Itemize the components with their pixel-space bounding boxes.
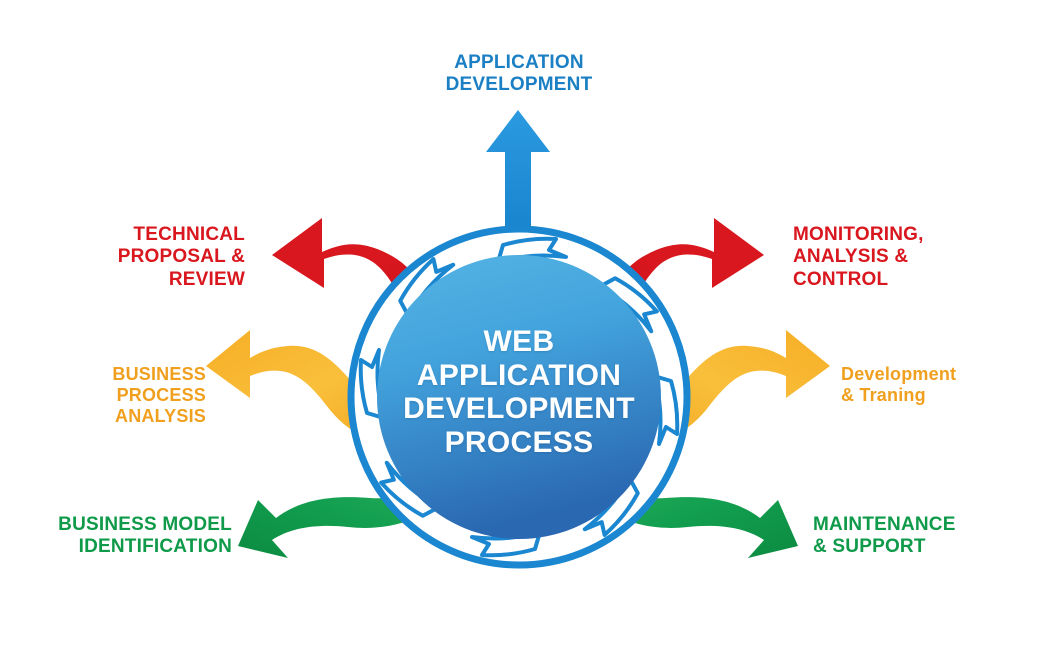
label-technical-proposal-review: TECHNICAL PROPOSAL & REVIEW (40, 224, 245, 291)
circle-inner-disc (377, 255, 661, 539)
label-maintenance-support: MAINTENANCE & SUPPORT (813, 514, 1038, 559)
label-business-process-analysis: BUSINESS PROCESS ANALYSIS (20, 364, 206, 428)
process-diagram: WEB APPLICATION DEVELOPMENT PROCESS APPL… (0, 0, 1040, 650)
label-application-development: APPLICATION DEVELOPMENT (389, 52, 649, 97)
label-development-training: Development & Traning (841, 364, 1040, 406)
label-monitoring-analysis-control: MONITORING, ANALYSIS & CONTROL (793, 224, 1028, 291)
label-business-model-identification: BUSINESS MODEL IDENTIFICATION (20, 514, 232, 559)
